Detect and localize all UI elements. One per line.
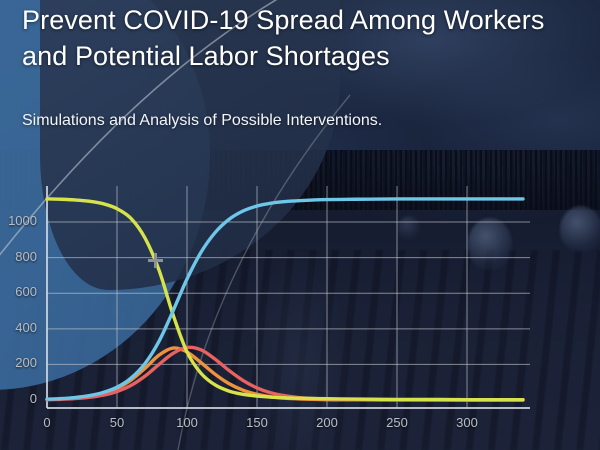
page-title: Prevent COVID-19 Spread Among Workers an…	[22, 2, 582, 74]
x-axis-tick-label: 250	[372, 415, 422, 430]
x-axis-tick-label: 200	[302, 415, 352, 430]
chart-plot-area	[0, 170, 600, 450]
x-axis-tick-label: 0	[22, 415, 72, 430]
x-axis-tick-label: 50	[92, 415, 142, 430]
chart-series-susceptible	[47, 199, 523, 400]
y-axis-tick-label: 200	[0, 355, 37, 370]
y-axis-tick-label: 400	[0, 320, 37, 335]
chart-series-infected	[47, 347, 523, 400]
chart-series-recovered	[47, 199, 523, 399]
simulation-chart: 02004006008001000050100150200250300	[0, 170, 600, 450]
page-title-line-2: and Potential Labor Shortages	[22, 38, 582, 74]
y-axis-tick-label: 0	[0, 391, 37, 406]
y-axis-tick-label: 600	[0, 284, 37, 299]
y-axis-tick-label: 1000	[0, 213, 37, 228]
x-axis-tick-label: 150	[232, 415, 282, 430]
page-title-line-1: Prevent COVID-19 Spread Among Workers	[22, 2, 582, 38]
presentation-slide: Prevent COVID-19 Spread Among Workers an…	[0, 0, 600, 450]
x-axis-tick-label: 100	[162, 415, 212, 430]
page-subtitle: Simulations and Analysis of Possible Int…	[22, 110, 562, 132]
x-axis-tick-label: 300	[442, 415, 492, 430]
y-axis-tick-label: 800	[0, 249, 37, 264]
